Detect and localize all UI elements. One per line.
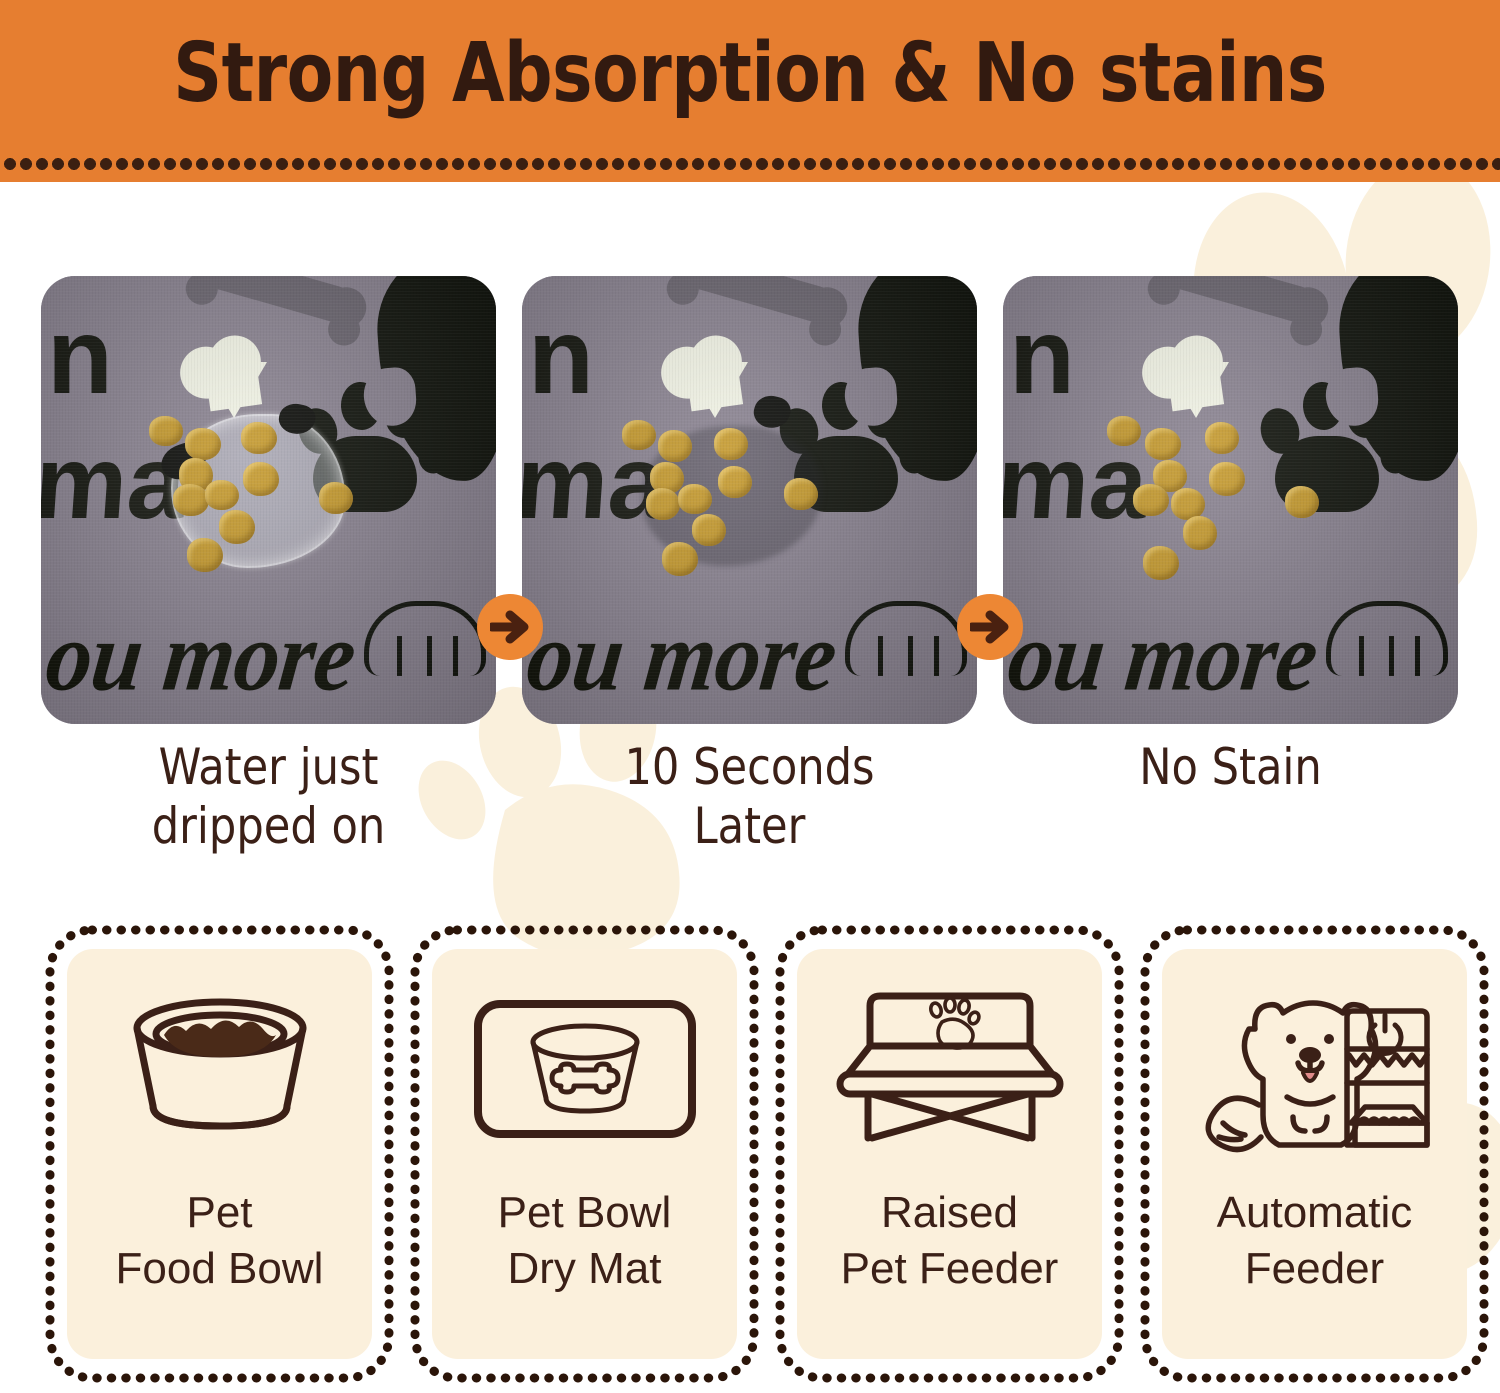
arrow-right-icon: [957, 594, 1023, 660]
demo-caption: No Stain: [1012, 738, 1449, 797]
demo-caption: 10 Seconds Later: [531, 738, 968, 856]
feature-card-label: Raised Pet Feeder: [797, 1185, 1102, 1298]
feature-card-automatic-feeder[interactable]: Automatic Feeder: [1140, 925, 1489, 1383]
arrow-right-icon: [477, 594, 543, 660]
page-title: Strong Absorption & No stains: [60, 26, 1440, 121]
feature-card-label: Pet Bowl Dry Mat: [432, 1185, 737, 1298]
mat-photo-no-stain: n ma ou more: [1003, 276, 1458, 724]
feature-card-pet-food-bowl[interactable]: Pet Food Bowl: [45, 925, 394, 1383]
mat-photo-water-just-dripped: n ma ou more: [41, 276, 496, 724]
pet-food-bowl-icon: [67, 971, 372, 1167]
raised-pet-feeder-icon: [797, 971, 1102, 1167]
automatic-feeder-icon: [1162, 971, 1467, 1167]
feature-card-raised-pet-feeder[interactable]: Raised Pet Feeder: [775, 925, 1124, 1383]
paw-icon: [929, 998, 981, 1048]
feature-card-pet-bowl-dry-mat[interactable]: Pet Bowl Dry Mat: [410, 925, 759, 1383]
absorption-demo-strip: n ma ou more n ma: [0, 182, 1500, 882]
compatible-products-cards: Pet Food Bowl Pet Bowl Dry Mat: [0, 925, 1500, 1393]
card-inner-panel: Automatic Feeder: [1162, 949, 1467, 1359]
feature-card-label: Pet Food Bowl: [67, 1185, 372, 1298]
card-inner-panel: Pet Bowl Dry Mat: [432, 949, 737, 1359]
demo-caption: Water just dripped on: [50, 738, 487, 856]
header-banner: Strong Absorption & No stains: [0, 0, 1500, 182]
mat-photo-10-seconds-later: n ma ou more: [522, 276, 977, 724]
header-dotted-divider: [0, 158, 1500, 170]
card-inner-panel: Pet Food Bowl: [67, 949, 372, 1359]
feature-card-label: Automatic Feeder: [1162, 1185, 1467, 1298]
card-inner-panel: Raised Pet Feeder: [797, 949, 1102, 1359]
dog-icon: [1208, 1003, 1375, 1150]
pet-bowl-dry-mat-icon: [432, 971, 737, 1167]
